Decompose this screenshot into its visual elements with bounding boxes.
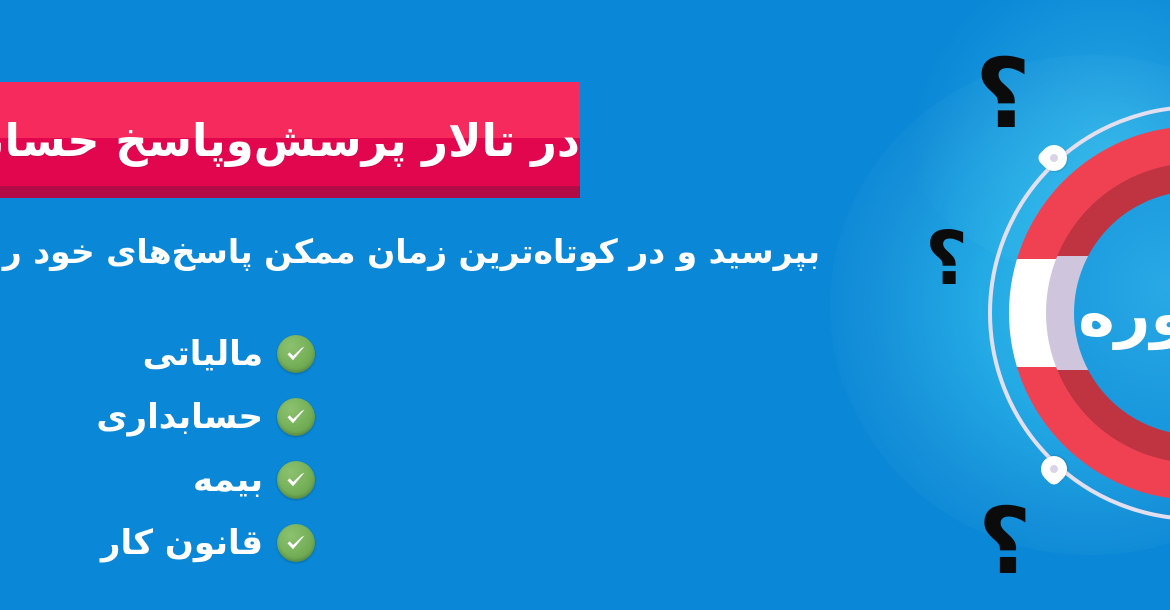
ring-pin-marker-top-icon bbox=[1036, 140, 1073, 177]
badge-hairline-ring bbox=[988, 105, 1170, 521]
check-circle-icon bbox=[277, 524, 315, 562]
checklist-item: حسابداری bbox=[96, 385, 315, 448]
checklist-item: مالیاتی bbox=[96, 322, 315, 385]
checklist-item-label: حسابداری bbox=[96, 400, 263, 434]
headline-text: در تالار پرسش‌وپاسخ حسابداران برتر bbox=[0, 82, 580, 198]
question-mark-2-icon: ؟ bbox=[925, 222, 968, 296]
question-mark-3-icon: ؟ bbox=[978, 496, 1031, 588]
check-circle-icon bbox=[277, 398, 315, 436]
checklist-item-label: مالیاتی bbox=[143, 337, 263, 371]
feature-checklist: مالیاتی حسابداری بیمه bbox=[96, 322, 315, 574]
badge-core bbox=[1074, 191, 1170, 435]
checklist-item: قانون کار bbox=[96, 511, 315, 574]
circular-badge: مشاوره bbox=[988, 113, 1170, 513]
ring-pin-marker-bottom-icon bbox=[1036, 451, 1073, 488]
check-circle-icon bbox=[277, 461, 315, 499]
badge-inner-band bbox=[1046, 163, 1170, 463]
banner-canvas: مشاوره ؟ ؟ ؟ در تالار پرسش‌وپاسخ حسابدار… bbox=[0, 0, 1170, 610]
headline-banner: در تالار پرسش‌وپاسخ حسابداران برتر bbox=[0, 82, 580, 198]
pin-dot bbox=[1048, 463, 1059, 474]
checklist-item-label: بیمه bbox=[193, 463, 263, 497]
badge-label: مشاوره bbox=[1074, 191, 1170, 435]
check-circle-icon bbox=[277, 335, 315, 373]
checklist-item: بیمه bbox=[96, 448, 315, 511]
pin-dot bbox=[1048, 152, 1059, 163]
badge-outer-band bbox=[1009, 126, 1170, 500]
question-mark-1-icon: ؟ bbox=[975, 46, 1031, 142]
checklist-item-label: قانون کار bbox=[101, 526, 263, 560]
subtitle-text: بپرسید و در کوتاه‌ترین زمان ممکن پاسخ‌ها… bbox=[0, 222, 820, 280]
